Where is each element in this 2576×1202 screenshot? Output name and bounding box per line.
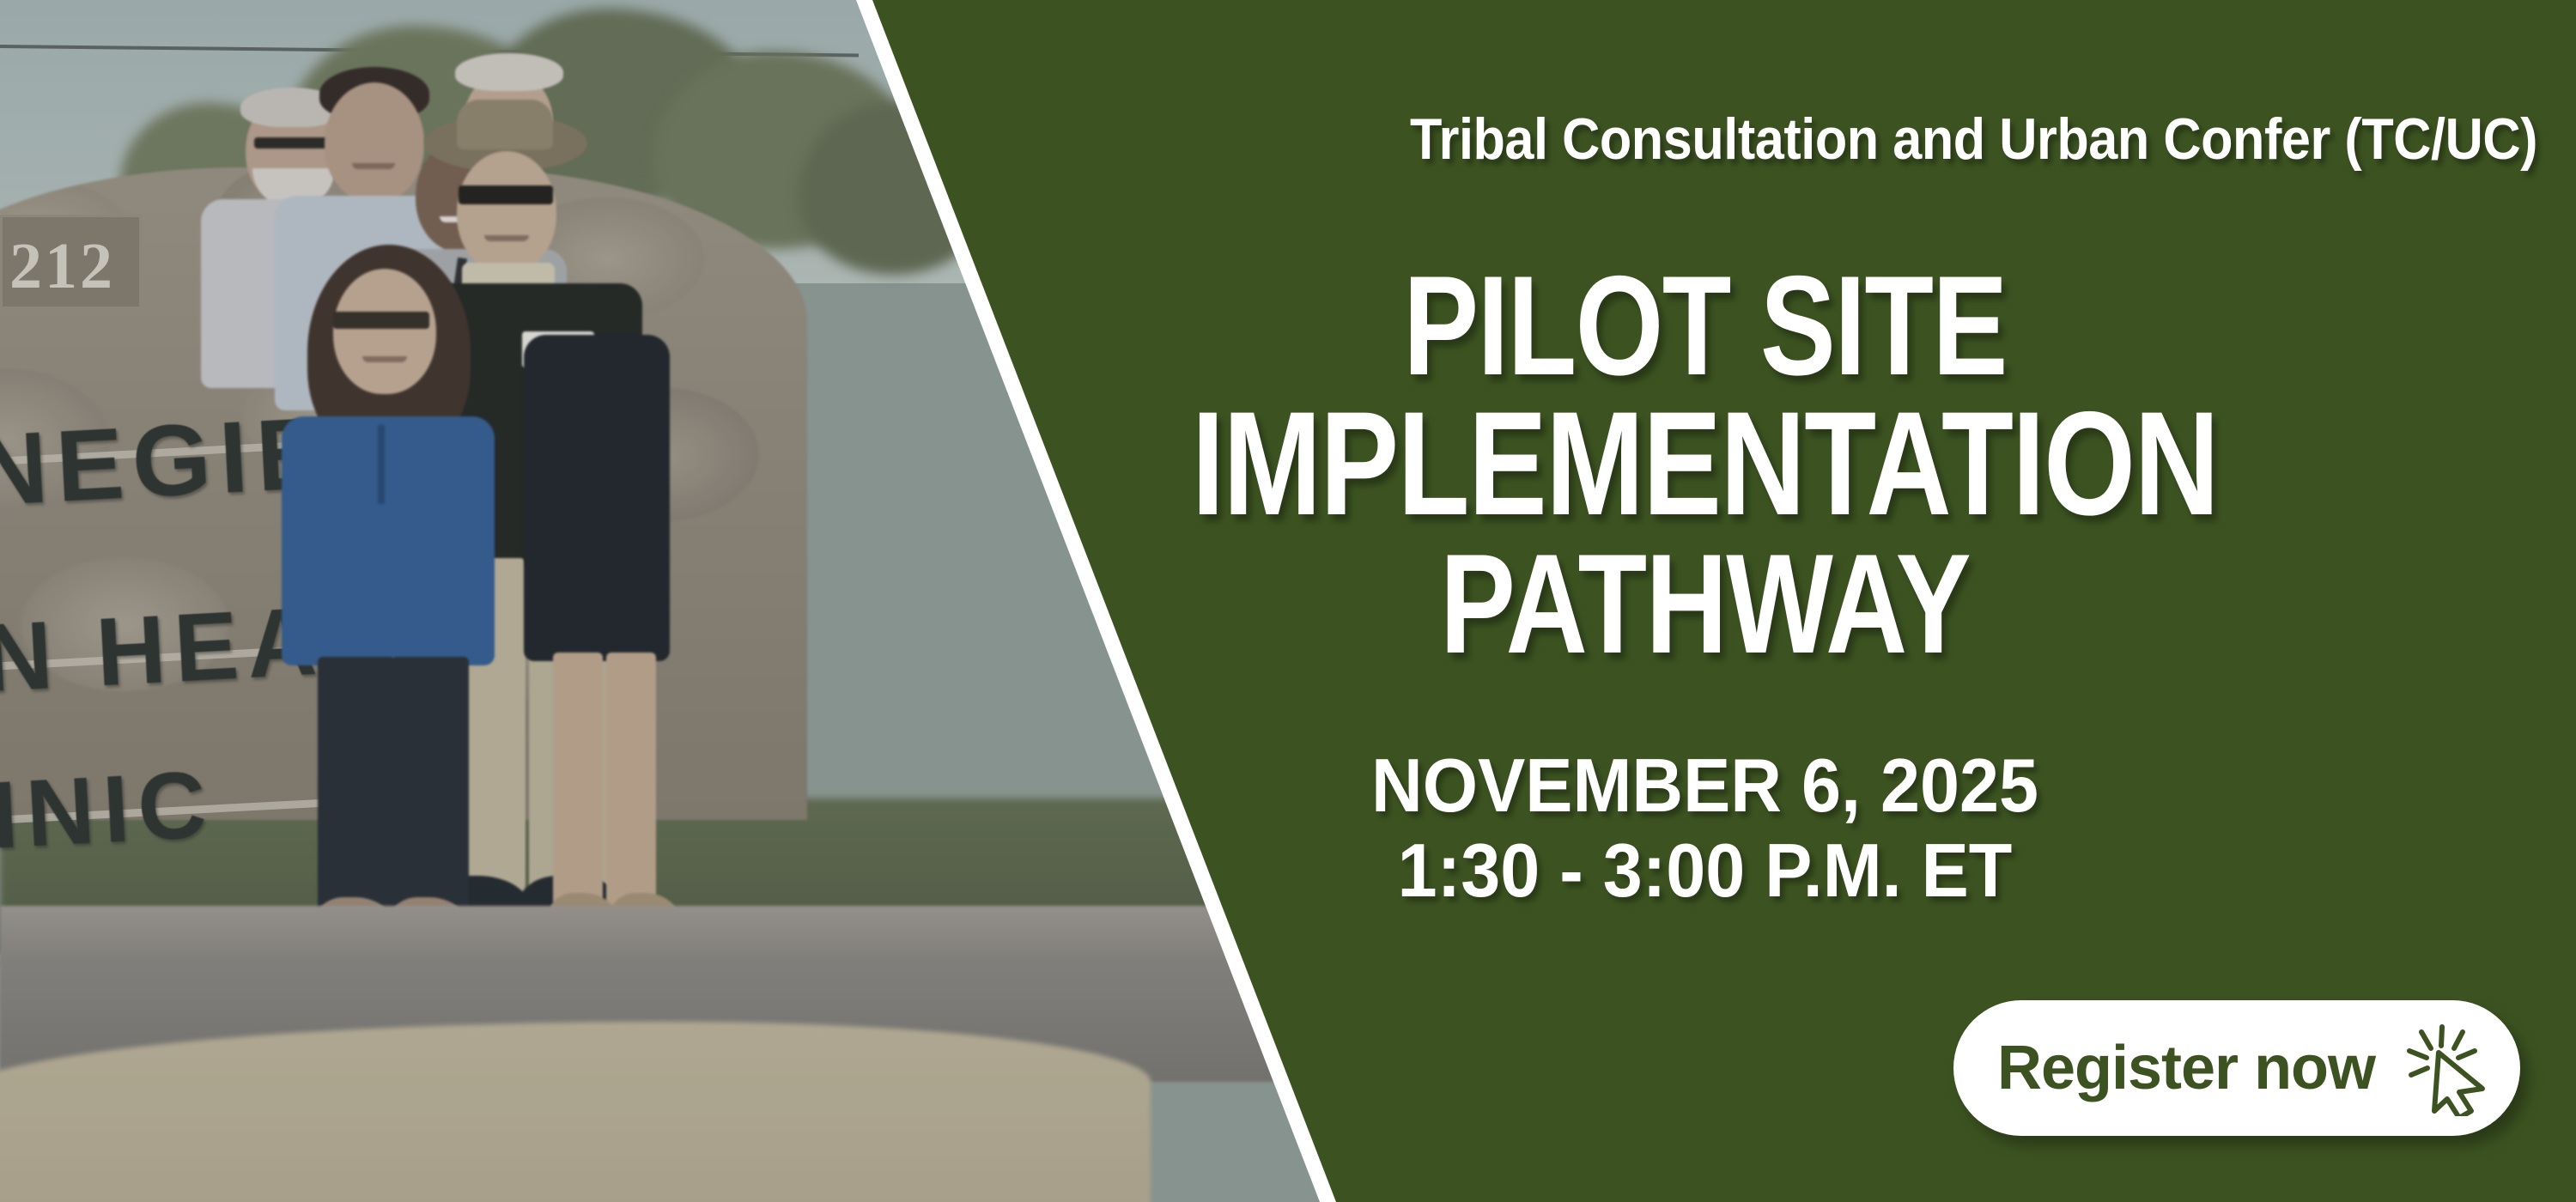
- person-figure: [515, 283, 670, 996]
- title-line-1: PILOT SITE: [1039, 258, 2371, 393]
- register-now-label: Register now: [1997, 1037, 2375, 1099]
- address-number: 212: [9, 229, 115, 304]
- banner-content: Tribal Consultation and Urban Confer (TC…: [872, 0, 2576, 1202]
- banner-title: PILOT SITE IMPLEMENTATION PATHWAY: [872, 258, 2537, 671]
- event-banner: 212 NEGIE N HEAL INIC: [0, 0, 2576, 1202]
- sign-text-line: INIC: [0, 750, 217, 870]
- program-kicker: Tribal Consultation and Urban Confer (TC…: [1039, 110, 2537, 168]
- title-line-3: PATHWAY: [1039, 536, 2371, 671]
- event-datetime: NOVEMBER 6, 2025 1:30 - 3:00 P.M. ET: [872, 744, 2537, 913]
- click-cursor-icon: [2394, 1020, 2490, 1116]
- title-line-2: IMPLEMENTATION: [1039, 393, 2371, 535]
- event-date: NOVEMBER 6, 2025: [922, 744, 2488, 829]
- event-time: 1:30 - 3:00 P.M. ET: [922, 829, 2488, 914]
- register-now-button[interactable]: Register now: [1953, 1000, 2520, 1136]
- person-figure: [283, 245, 515, 1009]
- address-plaque: 212: [0, 215, 142, 309]
